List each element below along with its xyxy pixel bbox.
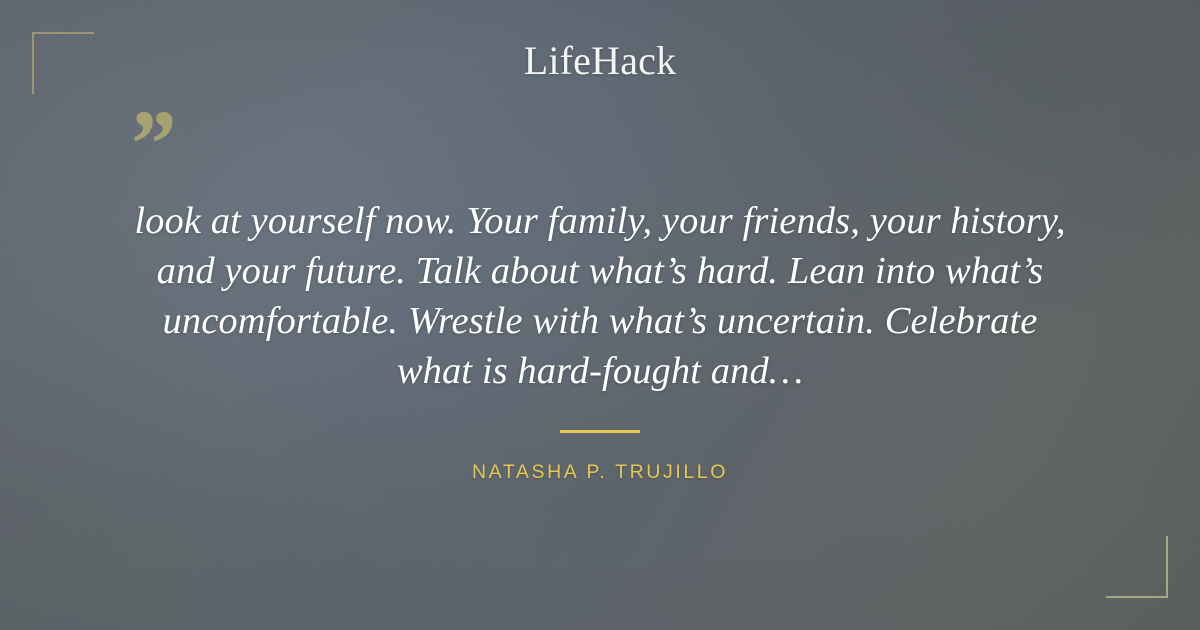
quote-line: what is hard-fought and… [72,346,1128,396]
quote-mark-icon: ” [126,96,174,192]
author-name: NATASHA P. TRUJILLO [472,461,728,484]
quote-line: look at yourself now. Your family, your … [72,196,1128,246]
quote-text: look at yourself now. Your family, your … [72,196,1128,396]
attribution-block: NATASHA P. TRUJILLO [0,430,1200,484]
brand-logo: LifeHack [0,38,1200,84]
quote-card: LifeHack ” look at yourself now. Your fa… [0,0,1200,630]
quote-line: and your future. Talk about what’s hard.… [72,246,1128,296]
quote-line: uncomfortable. Wrestle with what’s uncer… [72,296,1128,346]
attribution-divider [560,430,640,433]
